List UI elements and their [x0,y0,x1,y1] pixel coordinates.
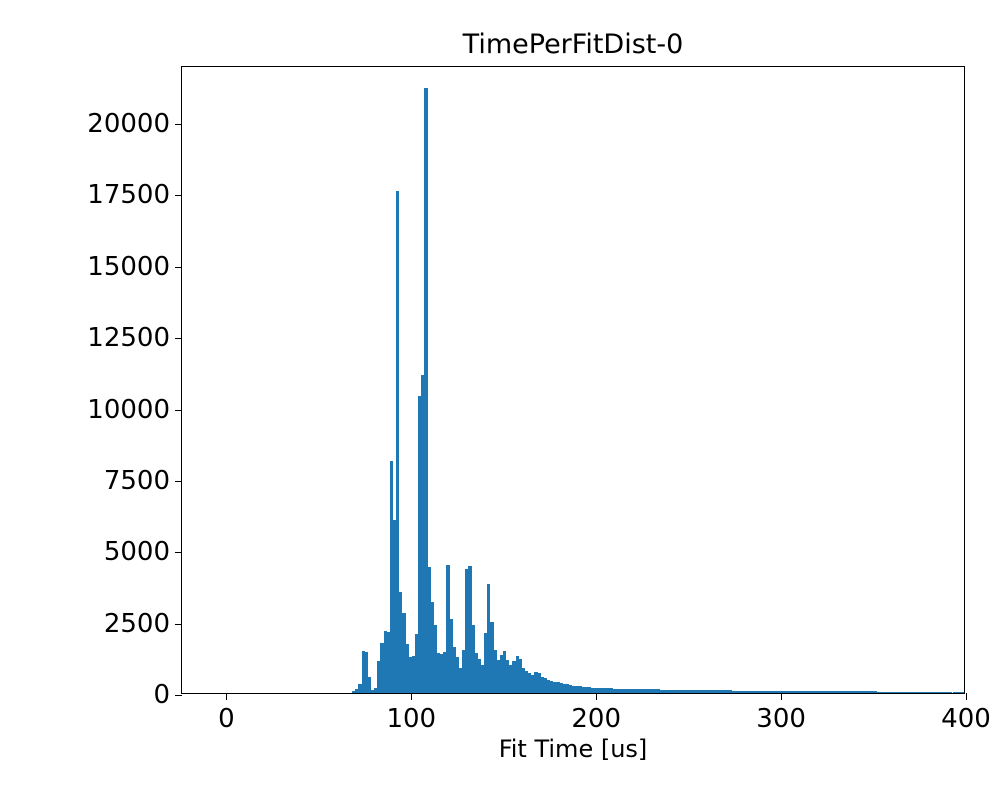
y-tick-label: 2500 [104,611,170,637]
x-tick-label: 400 [941,706,991,732]
y-tick-mark [175,695,182,696]
y-tick-mark [175,338,182,339]
y-tick-label: 0 [153,682,170,708]
y-tick-mark [175,624,182,625]
x-tick-mark [781,693,782,700]
y-tick-label: 12500 [87,325,170,351]
y-tick-mark [175,124,182,125]
page-title: TimePerFitDist-0 [181,28,965,62]
histogram-bars [182,67,964,693]
y-tick-mark [175,410,182,411]
y-tick-mark [175,195,182,196]
y-tick-label: 7500 [104,468,170,494]
x-tick-mark [226,693,227,700]
y-tick-mark [175,552,182,553]
plot-area: 02500500075001000012500150001750020000 0… [181,66,965,694]
x-tick-mark [596,693,597,700]
y-tick-label: 5000 [104,539,170,565]
x-tick-label: 200 [571,706,621,732]
x-tick-label: 300 [756,706,806,732]
y-tick-mark [175,267,182,268]
y-tick-label: 10000 [87,397,170,423]
y-tick-mark [175,481,182,482]
x-tick-mark [411,693,412,700]
x-tick-label: 0 [218,706,235,732]
y-tick-label: 17500 [87,182,170,208]
x-tick-label: 100 [386,706,436,732]
y-tick-label: 15000 [87,254,170,280]
histogram-bar [962,692,964,693]
x-axis-label: Fit Time [us] [181,734,965,764]
x-tick-mark [966,693,967,700]
histogram-figure: TimePerFitDist-0 02500500075001000012500… [0,0,1000,800]
y-tick-label: 20000 [87,111,170,137]
